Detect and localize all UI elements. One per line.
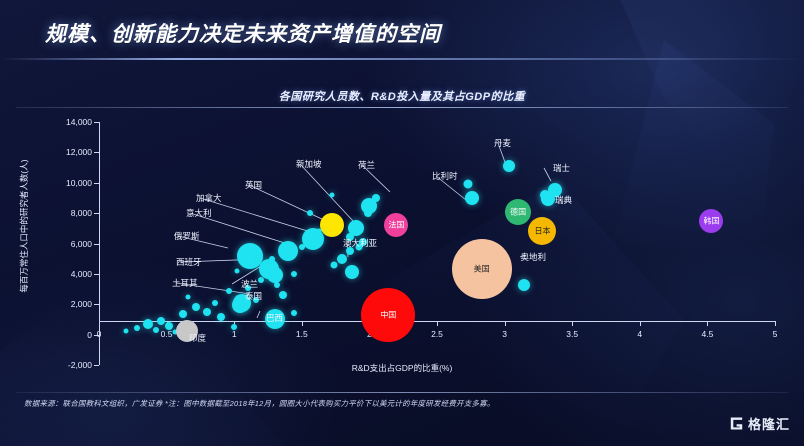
footer-divider (16, 392, 788, 393)
chart-subtitle: 各国研究人员数、R&D投入量及其占GDP的比重 (0, 88, 804, 104)
bubble-point[interactable] (337, 254, 347, 264)
callout-label-瑞典: 瑞典 (555, 194, 572, 206)
bubble-point[interactable] (153, 327, 159, 333)
bubble-point[interactable] (331, 261, 338, 268)
bubble-point[interactable] (186, 294, 191, 299)
x-tick-mark (707, 321, 708, 326)
y-tick-label: 2,000 (71, 299, 92, 309)
callout-label-丹麦: 丹麦 (494, 137, 511, 149)
source-note: 数据来源：联合国教科文组织，广发证券 *注：图中数据截至2018年12月，圆圈大… (24, 398, 495, 409)
x-tick-label: 3.5 (566, 329, 578, 339)
bubble-波兰[interactable] (267, 267, 283, 283)
y-axis-title: 每百万常住人口中的研究者人数(人) (18, 159, 30, 292)
x-tick-label: 1 (232, 329, 237, 339)
x-axis-title: R&D支出占GDP的比重(%) (0, 362, 804, 374)
bubble-point[interactable] (179, 310, 187, 318)
y-tick-mark (94, 304, 99, 305)
x-tick-label: 4.5 (701, 329, 713, 339)
bubble-point[interactable] (291, 310, 297, 316)
callout-label-奥地利: 奥地利 (520, 251, 546, 263)
x-tick-mark (437, 321, 438, 326)
page-title: 规模、创新能力决定未来资产增值的空间 (45, 18, 441, 48)
bubble-point[interactable] (165, 322, 173, 330)
bubble-美国[interactable] (452, 239, 512, 299)
x-tick-mark (640, 321, 641, 326)
x-tick-label: 4 (637, 329, 642, 339)
bubble-point[interactable] (291, 271, 297, 277)
callout-label-巴西: 巴西 (266, 312, 283, 324)
callout-label-泰国: 泰国 (245, 290, 262, 302)
x-tick-mark (572, 321, 573, 326)
bubble-chart: 14,00012,00010,0008,0006,0004,0002,0000-… (0, 108, 804, 390)
slide-header: 规模、创新能力决定未来资产增值的空间 (0, 0, 804, 62)
bubble-英国[interactable] (320, 213, 344, 237)
y-tick-mark (94, 274, 99, 275)
callout-label-英国: 英国 (245, 179, 262, 191)
bubble-加拿大[interactable] (302, 228, 324, 250)
callout-label-波兰: 波兰 (241, 278, 258, 290)
header-divider (0, 58, 804, 60)
bubble-丹麦[interactable] (503, 160, 515, 172)
slide-canvas: 规模、创新能力决定未来资产增值的空间 各国研究人员数、R&D投入量及其占GDP的… (0, 0, 804, 446)
y-tick-label: 6,000 (71, 239, 92, 249)
y-tick-mark (94, 183, 99, 184)
bubble-point[interactable] (329, 192, 334, 197)
bubble-新加坡[interactable] (348, 220, 364, 236)
g-logo-icon (729, 416, 744, 431)
callout-label-比利时: 比利时 (432, 170, 458, 182)
bubble-中国[interactable] (361, 288, 415, 342)
bubble-比利时[interactable] (465, 191, 479, 205)
bubble-point[interactable] (134, 325, 140, 331)
x-tick-label: 2.5 (431, 329, 443, 339)
callout-label-印度: 印度 (189, 332, 206, 344)
bubble-point[interactable] (226, 288, 232, 294)
y-tick-mark (94, 152, 99, 153)
callout-label-俄罗斯: 俄罗斯 (174, 230, 200, 242)
callout-label-意大利: 意大利 (186, 207, 212, 219)
brand-logo: 格隆汇 (729, 414, 790, 433)
y-tick-mark (94, 213, 99, 214)
callout-label-土耳其: 土耳其 (172, 277, 198, 289)
bubble-意大利[interactable] (278, 241, 298, 261)
x-tick-label: 3 (502, 329, 507, 339)
callout-label-瑞士: 瑞士 (553, 162, 570, 174)
bubble-point[interactable] (212, 300, 218, 306)
callout-leader-lines (0, 108, 804, 390)
bubble-point[interactable] (192, 303, 200, 311)
y-tick-label: 12,000 (66, 147, 92, 157)
brand-name: 格隆汇 (748, 414, 790, 433)
callout-label-加拿大: 加拿大 (196, 192, 222, 204)
bubble-point[interactable] (157, 317, 165, 325)
callout-label-西班牙: 西班牙 (176, 256, 202, 268)
x-tick-label: 0.5 (161, 329, 173, 339)
callout-label-荷兰: 荷兰 (358, 159, 375, 171)
x-tick-mark (505, 321, 506, 326)
x-tick-mark (99, 321, 100, 326)
x-tick-label: 5 (773, 329, 778, 339)
bubble-瑞典[interactable] (541, 192, 555, 206)
y-tick-label: 4,000 (71, 269, 92, 279)
y-tick-mark (94, 122, 99, 123)
bubble-法国[interactable] (384, 213, 408, 237)
y-tick-label: 0 (87, 330, 92, 340)
bubble-日本[interactable] (528, 217, 556, 245)
callout-label-澳大利亚: 澳大利亚 (343, 237, 377, 249)
bubble-point[interactable] (307, 210, 313, 216)
bubble-韩国[interactable] (699, 209, 723, 233)
bubble-point[interactable] (231, 324, 237, 330)
bubble-point[interactable] (234, 268, 239, 273)
bubble-point[interactable] (203, 308, 211, 316)
y-tick-label: 8,000 (71, 208, 92, 218)
x-tick-label: 0 (97, 329, 102, 339)
callout-label-新加坡: 新加坡 (296, 158, 322, 170)
y-tick-mark (94, 244, 99, 245)
bubble-point[interactable] (124, 328, 129, 333)
y-tick-label: 14,000 (66, 117, 92, 127)
x-tick-label: 1.5 (296, 329, 308, 339)
x-tick-mark (302, 321, 303, 326)
bubble-奥地利[interactable] (518, 279, 530, 291)
bubble-point[interactable] (217, 313, 225, 321)
y-tick-label: 10,000 (66, 178, 92, 188)
bubble-德国[interactable] (505, 199, 531, 225)
bubble-point[interactable] (279, 291, 287, 299)
bubble-澳大利亚[interactable] (345, 265, 359, 279)
bubble-point[interactable] (464, 180, 473, 189)
bubble-荷兰[interactable] (361, 198, 377, 214)
x-tick-mark (775, 321, 776, 326)
bubble-point[interactable] (143, 319, 153, 329)
